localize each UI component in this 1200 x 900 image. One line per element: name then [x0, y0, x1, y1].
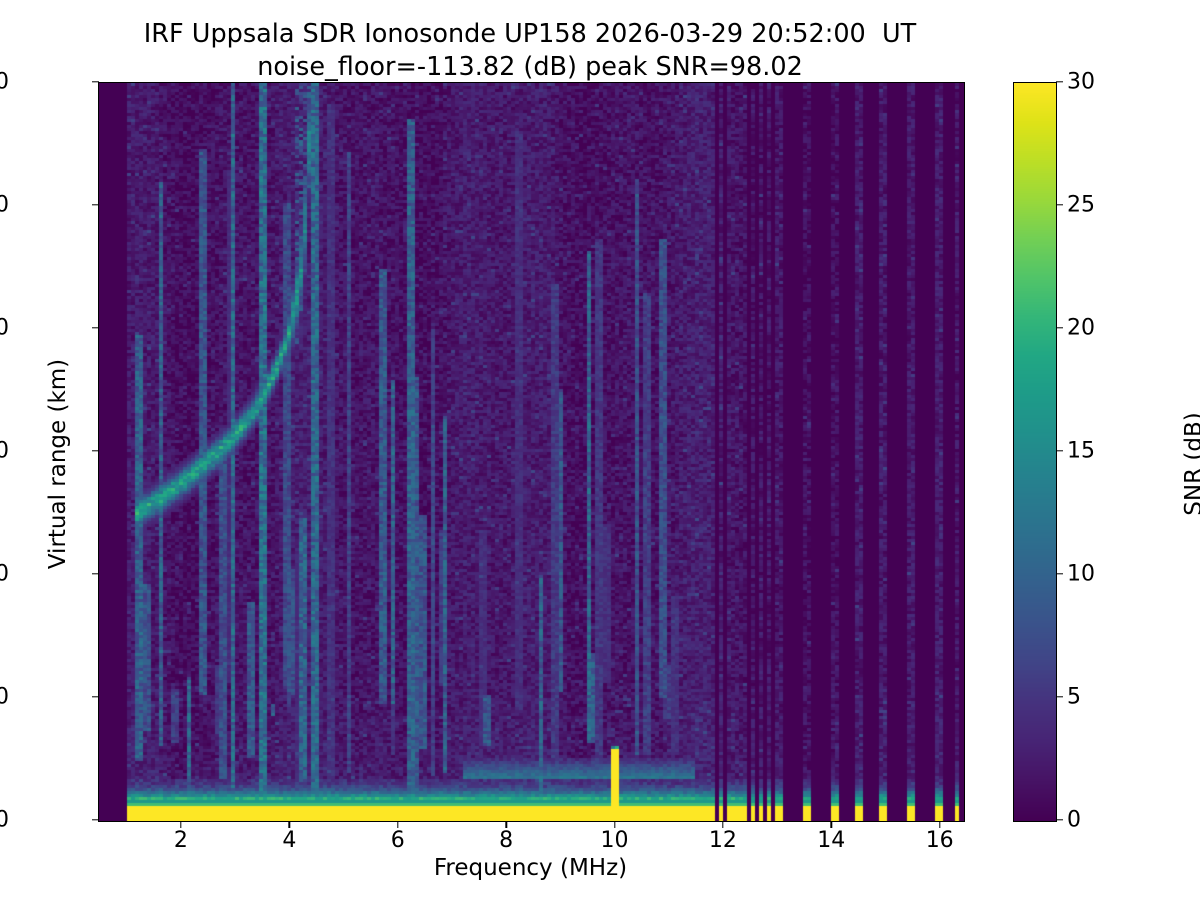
colorbar-tick-label: 25	[1067, 193, 1095, 218]
x-axis-tick-label: 16	[926, 828, 954, 853]
y-axis-tick-mark	[92, 573, 99, 574]
x-axis-tick-mark	[505, 821, 506, 828]
colorbar-tick-label: 10	[1067, 562, 1095, 587]
y-axis-tick-label: 200	[0, 562, 9, 587]
colorbar-tick-mark	[1056, 573, 1063, 574]
y-axis-tick-label: 0	[0, 808, 9, 833]
x-axis-tick-label: 8	[499, 828, 513, 853]
x-axis-tick-mark	[939, 821, 940, 828]
y-axis-tick-mark	[92, 204, 99, 205]
colorbar-tick-label: 0	[1067, 808, 1081, 833]
colorbar-tick-mark	[1056, 327, 1063, 328]
x-axis-tick-label: 12	[709, 828, 737, 853]
ionogram-figure: IRF Uppsala SDR Ionosonde UP158 2026-03-…	[0, 0, 1200, 900]
colorbar-tick-mark	[1056, 204, 1063, 205]
y-axis-tick-label: 100	[0, 685, 9, 710]
y-axis-tick-label: 600	[0, 70, 9, 95]
y-axis-label: Virtual range (km)	[45, 94, 71, 834]
x-axis-tick-mark	[614, 821, 615, 828]
x-axis-tick-label: 6	[391, 828, 405, 853]
x-axis-tick-label: 10	[601, 828, 629, 853]
colorbar-tick-label: 15	[1067, 439, 1095, 464]
x-axis-tick-label: 2	[174, 828, 188, 853]
x-axis-tick-mark	[397, 821, 398, 828]
colorbar-gradient	[1014, 83, 1056, 821]
colorbar-tick-mark	[1056, 819, 1063, 820]
x-axis-label: Frequency (MHz)	[98, 855, 963, 881]
colorbar-tick-mark	[1056, 81, 1063, 82]
y-axis-tick-mark	[92, 450, 99, 451]
figure-title: IRF Uppsala SDR Ionosonde UP158 2026-03-…	[0, 18, 1060, 83]
colorbar-tick-mark	[1056, 450, 1063, 451]
colorbar-tick-label: 30	[1067, 70, 1095, 95]
colorbar-tick-label: 20	[1067, 316, 1095, 341]
title-line-1: IRF Uppsala SDR Ionosonde UP158 2026-03-…	[0, 18, 1060, 51]
y-axis-tick-mark	[92, 696, 99, 697]
y-axis-tick-mark	[92, 81, 99, 82]
ionogram-plot-area	[98, 82, 965, 822]
x-axis-tick-mark	[180, 821, 181, 828]
colorbar-tick-mark	[1056, 696, 1063, 697]
x-axis-tick-mark	[289, 821, 290, 828]
y-axis-tick-label: 300	[0, 439, 9, 464]
x-axis-tick-mark	[831, 821, 832, 828]
y-axis-tick-mark	[92, 819, 99, 820]
ionogram-heatmap-canvas	[99, 83, 964, 821]
colorbar-label: SNR (dB)	[1181, 94, 1200, 834]
y-axis-tick-mark	[92, 327, 99, 328]
x-axis-tick-mark	[722, 821, 723, 828]
title-line-2: noise_floor=-113.82 (dB) peak SNR=98.02	[0, 51, 1060, 84]
colorbar	[1013, 82, 1057, 822]
y-axis-tick-label: 500	[0, 193, 9, 218]
x-axis-tick-label: 4	[282, 828, 296, 853]
x-axis-tick-label: 14	[817, 828, 845, 853]
colorbar-tick-label: 5	[1067, 685, 1081, 710]
y-axis-tick-label: 400	[0, 316, 9, 341]
